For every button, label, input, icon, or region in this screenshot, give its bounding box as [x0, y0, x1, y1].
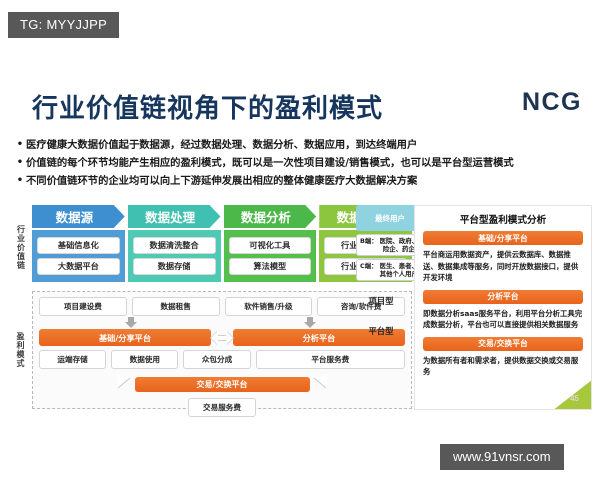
- bullet-text: 医疗健康大数据价值起于数据源，经过数据处理、数据分析、数据应用，到达终端用户: [26, 136, 417, 154]
- bullet-marker-icon: •: [14, 172, 26, 190]
- fee-chip: 众包分成: [183, 350, 250, 369]
- site-watermark: www.91vnsr.com: [440, 444, 564, 470]
- value-chain-section: 行业价值链 数据源 基础信息化 大数据平台 数据处理 数据清洗整合 数据存储 数…: [12, 205, 412, 290]
- fee-chip: 软件销售/升级: [225, 297, 313, 316]
- value-chain-side-label: 行业价值链: [12, 205, 29, 290]
- bullet-text: 价值链的每个环节均能产生相应的盈利模式，既可以是一次性项目建设/销售模式，也可以…: [26, 154, 514, 172]
- ncg-logo: NCG: [522, 88, 582, 117]
- fee-chip: 数据使用: [111, 350, 178, 369]
- label-platform-type: 平台型: [352, 325, 410, 337]
- stage-chip: 可视化工具: [229, 237, 312, 254]
- analysis-bar-basic-share[interactable]: 基础/分享平台: [423, 231, 583, 245]
- trade-fee-chip: 交易服务费: [188, 398, 256, 417]
- stage-chevron[interactable]: 数据分析: [224, 205, 317, 228]
- stage-chip: 大数据平台: [37, 258, 120, 275]
- arrow-up-left-icon: [110, 369, 129, 388]
- bullet-marker-icon: •: [14, 136, 26, 154]
- stage-body: 基础信息化 大数据平台: [32, 230, 125, 282]
- project-fee-row: 项目建设费 数据租售 软件销售/升级 咨询/软件费: [39, 297, 405, 316]
- stage-column-data-source: 数据源 基础信息化 大数据平台: [32, 205, 125, 290]
- bullet-list: • 医疗健康大数据价值起于数据源，经过数据处理、数据分析、数据应用，到达终端用户…: [14, 136, 592, 190]
- stage-column-data-processing: 数据处理 数据清洗整合 数据存储: [128, 205, 221, 290]
- stage-column-data-analysis: 数据分析 可视化工具 算法模型: [224, 205, 317, 290]
- model-type-labels: 项目型 平台型: [352, 291, 410, 409]
- analysis-text-basic-share: 平台商运用数据资产，提供云数据库、数据推送、数据集成等服务，同时开放数据接口，提…: [423, 249, 583, 284]
- down-arrows-row: [39, 316, 405, 329]
- stage-body: 可视化工具 算法模型: [224, 230, 317, 282]
- platform-bar-basic-share[interactable]: 基础/分享平台: [39, 329, 211, 346]
- double-arrow-icon: [211, 331, 233, 345]
- stage-chevron[interactable]: 数据处理: [128, 205, 221, 228]
- corner-decoration: 45: [529, 365, 591, 409]
- bullet-item: • 价值链的每个环节均能产生相应的盈利模式，既可以是一次性项目建设/销售模式，也…: [14, 154, 592, 172]
- page-number: 45: [570, 394, 579, 403]
- analysis-panel: 平台型盈利模式分析 基础/分享平台 平台商运用数据资产，提供云数据库、数据推送、…: [414, 205, 592, 410]
- bullet-marker-icon: •: [14, 154, 26, 172]
- value-chain-stages: 数据源 基础信息化 大数据平台 数据处理 数据清洗整合 数据存储 数据分析 可视…: [32, 205, 412, 290]
- platform-bars-row: 基础/分享平台 分析平台: [39, 329, 405, 346]
- stage-chip: 算法模型: [229, 258, 312, 275]
- arrow-up-right-icon: [314, 369, 333, 388]
- profit-model-side-label: 盈利模式: [12, 291, 29, 409]
- stage-chip: 数据清洗整合: [133, 237, 216, 254]
- fee-chip: 数据租售: [132, 297, 220, 316]
- analysis-bar-trade[interactable]: 交易/交换平台: [423, 337, 583, 351]
- bullet-text: 不同价值链环节的企业均可以向上下游延伸发展出相应的整体健康医疗大数据解决方案: [26, 172, 417, 190]
- stage-chip: 基础信息化: [37, 237, 120, 254]
- tg-watermark-badge: TG: MYYJJPP: [8, 12, 119, 38]
- stage-chevron[interactable]: 数据源: [32, 205, 125, 228]
- analysis-text-analysis: 即数据分析saas服务平台，利用平台分析工具完成数据分析，平台也可以直接提供相关…: [423, 308, 583, 331]
- slide-canvas: TG: MYYJJPP 行业价值链视角下的盈利模式 NCG • 医疗健康大数据价…: [0, 0, 600, 480]
- bullet-item: • 医疗健康大数据价值起于数据源，经过数据处理、数据分析、数据应用，到达终端用户: [14, 136, 592, 154]
- platform-fee-row: 运端存储 数据使用 众包分成 平台服务费: [39, 350, 405, 369]
- segment-key: C端：: [360, 262, 377, 278]
- analysis-panel-title: 平台型盈利模式分析: [423, 212, 583, 226]
- fee-chip: 运端存储: [39, 350, 106, 369]
- trade-platform-bar[interactable]: 交易/交换平台: [135, 377, 310, 392]
- trade-platform-row: 交易/交换平台: [39, 374, 405, 394]
- label-project-type: 项目型: [352, 295, 410, 307]
- fee-chip: 项目建设费: [39, 297, 127, 316]
- stage-chip: 数据存储: [133, 258, 216, 275]
- page-title: 行业价值链视角下的盈利模式: [32, 88, 383, 125]
- segment-key: B端：: [360, 237, 378, 253]
- stage-body: 数据清洗整合 数据存储: [128, 230, 221, 282]
- analysis-bar-analysis[interactable]: 分析平台: [423, 290, 583, 304]
- bullet-item: • 不同价值链环节的企业均可以向上下游延伸发展出相应的整体健康医疗大数据解决方案: [14, 172, 592, 190]
